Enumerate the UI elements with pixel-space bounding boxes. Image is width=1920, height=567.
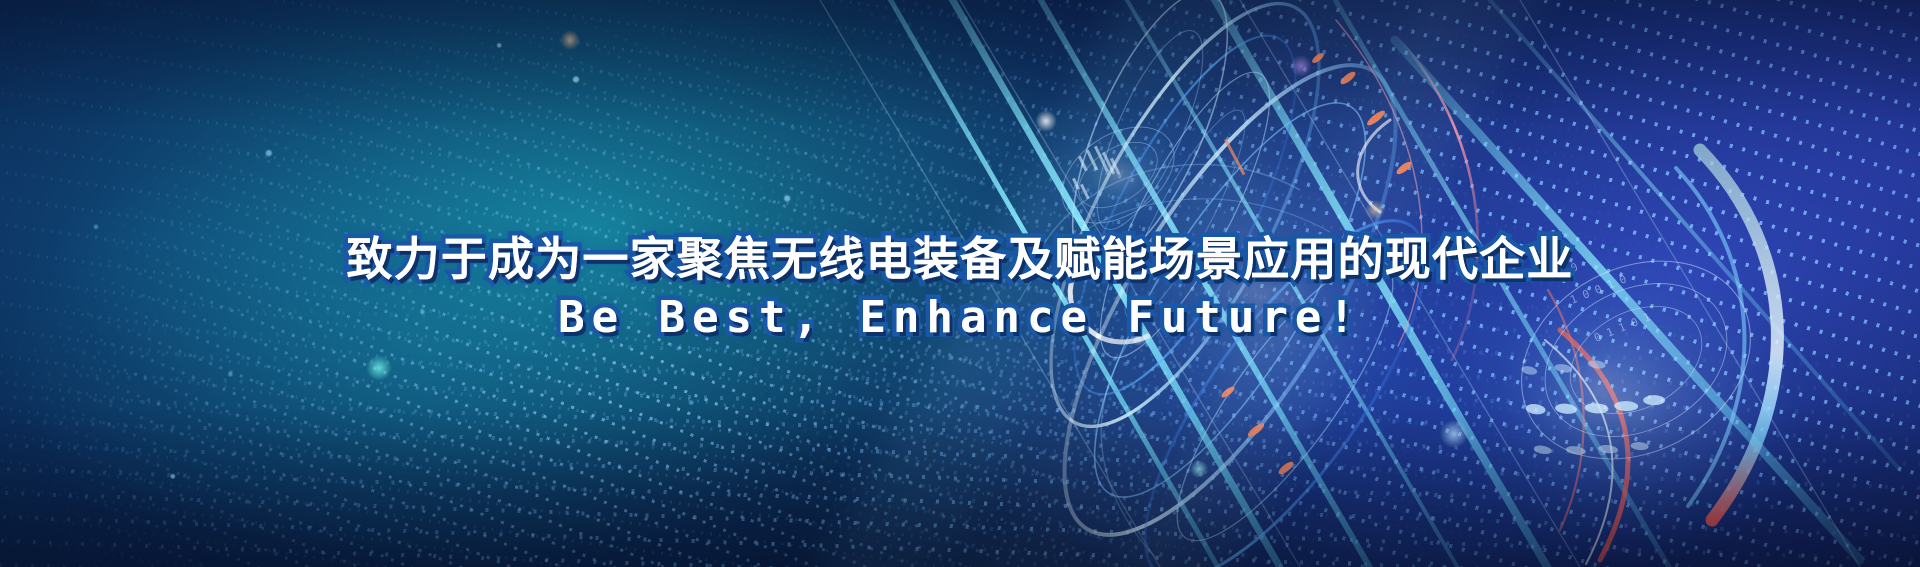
- headline-english-fill: Be Best, Enhance Future!: [558, 296, 1362, 340]
- headline-chinese-fill: 致力于成为一家聚焦无线电装备及赋能场景应用的现代企业: [346, 236, 1573, 282]
- hero-banner: 1 0 0 1 0 0 1 1 0 1 1 1 0: [0, 0, 1920, 567]
- headline-chinese-line: 致力于成为一家聚焦无线电装备及赋能场景应用的现代企业 致力于成为一家聚焦无线电装…: [0, 236, 1920, 282]
- banner-headline: 致力于成为一家聚焦无线电装备及赋能场景应用的现代企业 致力于成为一家聚焦无线电装…: [0, 236, 1920, 340]
- headline-english-line: Be Best, Enhance Future! Be Best, Enhanc…: [0, 296, 1920, 340]
